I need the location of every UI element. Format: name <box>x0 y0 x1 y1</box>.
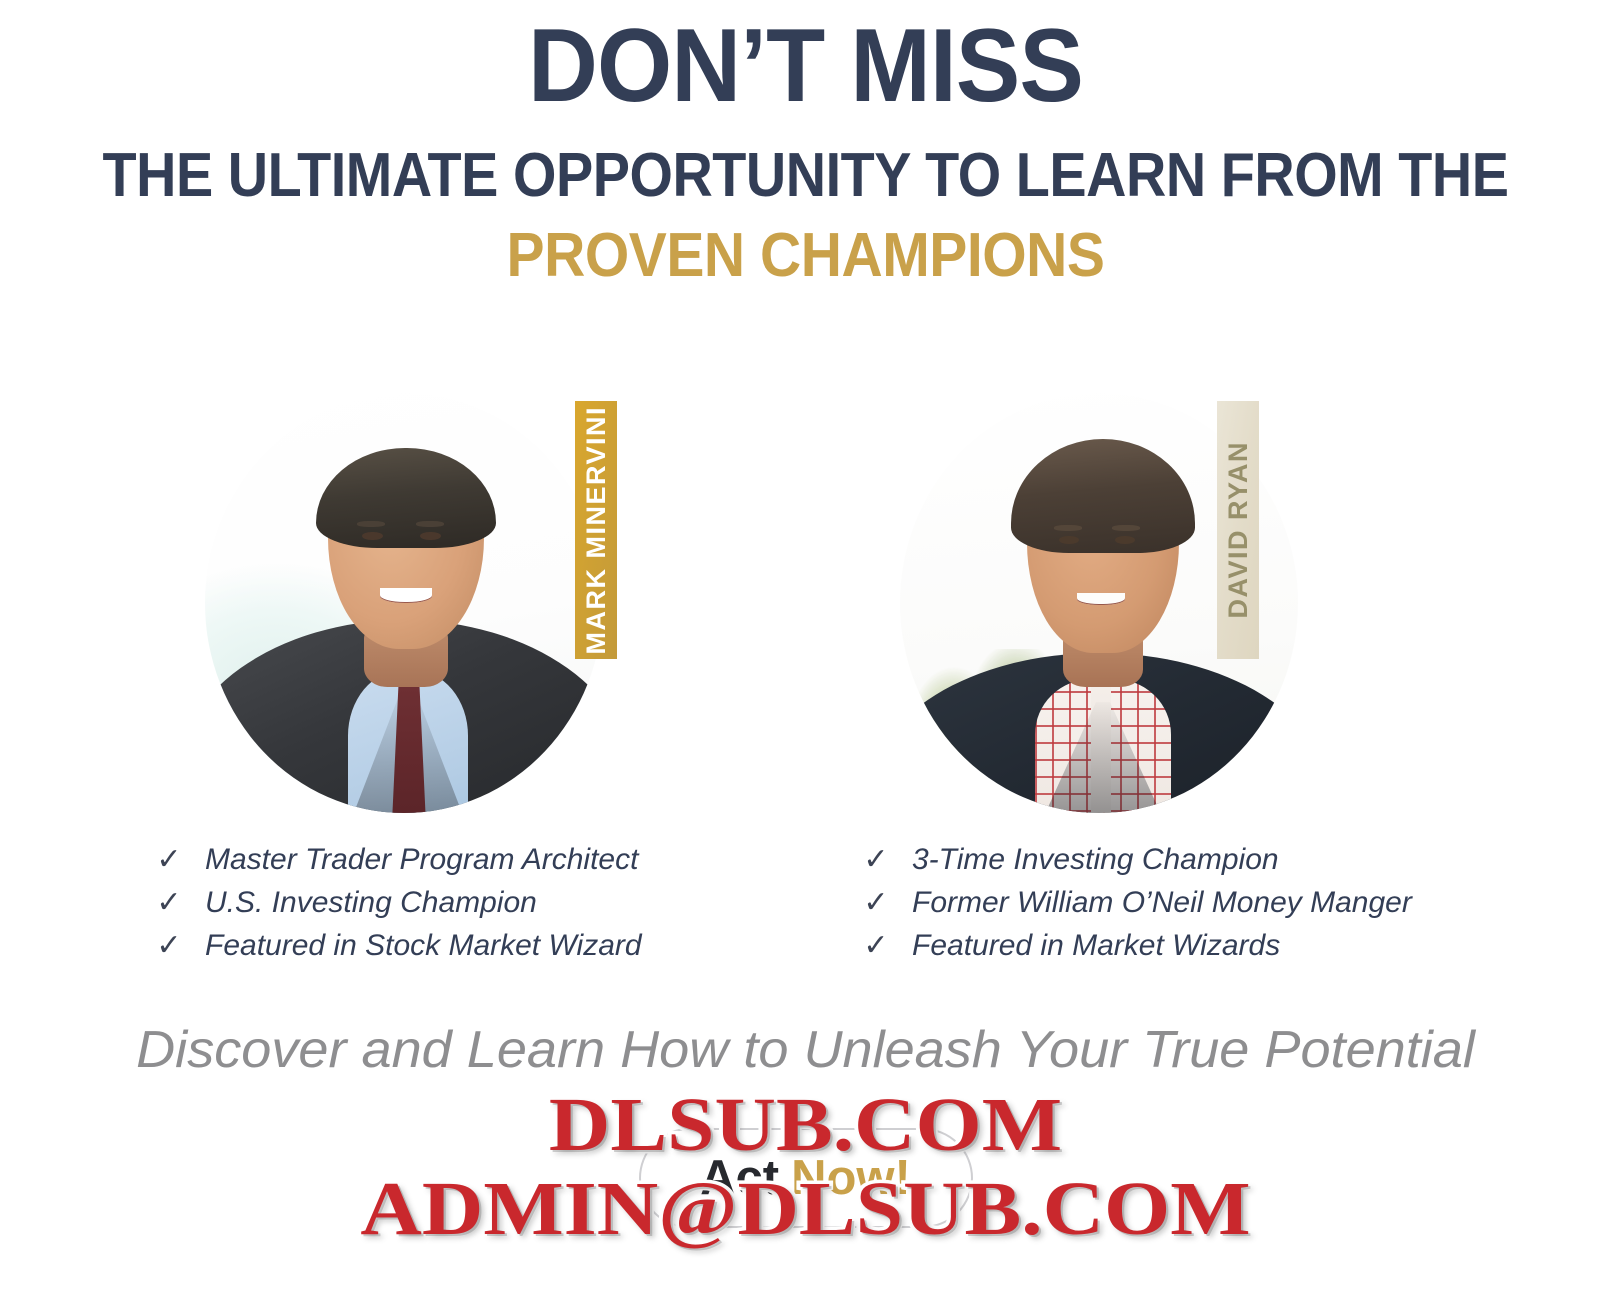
check-icon: ✓ <box>862 931 890 961</box>
credential-item: ✓ U.S. Investing Champion <box>155 886 642 929</box>
credentials-list-mark-minervini: ✓ Master Trader Program Architect ✓ U.S.… <box>155 843 642 972</box>
credential-item: ✓ Featured in Stock Market Wizard <box>155 929 642 972</box>
tagline: Discover and Learn How to Unleash Your T… <box>0 1020 1611 1080</box>
credential-label: Featured in Stock Market Wizard <box>205 929 642 963</box>
mark-minervini-portrait-image <box>205 393 603 813</box>
credential-item: ✓ 3-Time Investing Champion <box>862 843 1412 886</box>
check-icon: ✓ <box>155 845 183 875</box>
name-banner-label: MARK MINERVINI <box>581 406 612 655</box>
check-icon: ✓ <box>155 931 183 961</box>
speakers-section: MARK MINERVINI DAVID RYAN <box>0 383 1611 833</box>
headline-block: DON’T MISS THE ULTIMATE OPPORTUNITY TO L… <box>0 0 1611 292</box>
headline-line-2: THE ULTIMATE OPPORTUNITY TO LEARN FROM T… <box>81 140 1531 212</box>
watermark-email: ADMIN@DLSUB.COM <box>0 1166 1611 1253</box>
credential-label: 3-Time Investing Champion <box>912 843 1279 877</box>
credential-item: ✓ Former William O’Neil Money Manger <box>862 886 1412 929</box>
speaker-card-david-ryan: DAVID RYAN <box>880 383 1350 833</box>
credential-item: ✓ Master Trader Program Architect <box>155 843 642 886</box>
credential-label: Featured in Market Wizards <box>912 929 1280 963</box>
check-icon: ✓ <box>862 888 890 918</box>
credential-label: Master Trader Program Architect <box>205 843 638 877</box>
speaker-card-mark-minervini: MARK MINERVINI <box>185 383 655 833</box>
headline-line-3-accent: PROVEN CHAMPIONS <box>64 220 1546 292</box>
credential-label: U.S. Investing Champion <box>205 886 537 920</box>
check-icon: ✓ <box>155 888 183 918</box>
name-banner-label: DAVID RYAN <box>1223 441 1254 619</box>
credentials-list-david-ryan: ✓ 3-Time Investing Champion ✓ Former Wil… <box>862 843 1412 972</box>
credential-item: ✓ Featured in Market Wizards <box>862 929 1412 972</box>
headline-line-1: DON’T MISS <box>56 10 1554 122</box>
check-icon: ✓ <box>862 845 890 875</box>
credential-label: Former William O’Neil Money Manger <box>912 886 1412 920</box>
watermark-site: DLSUB.COM <box>0 1082 1611 1169</box>
name-banner-david-ryan: DAVID RYAN <box>1217 401 1259 659</box>
name-banner-mark-minervini: MARK MINERVINI <box>575 401 617 659</box>
